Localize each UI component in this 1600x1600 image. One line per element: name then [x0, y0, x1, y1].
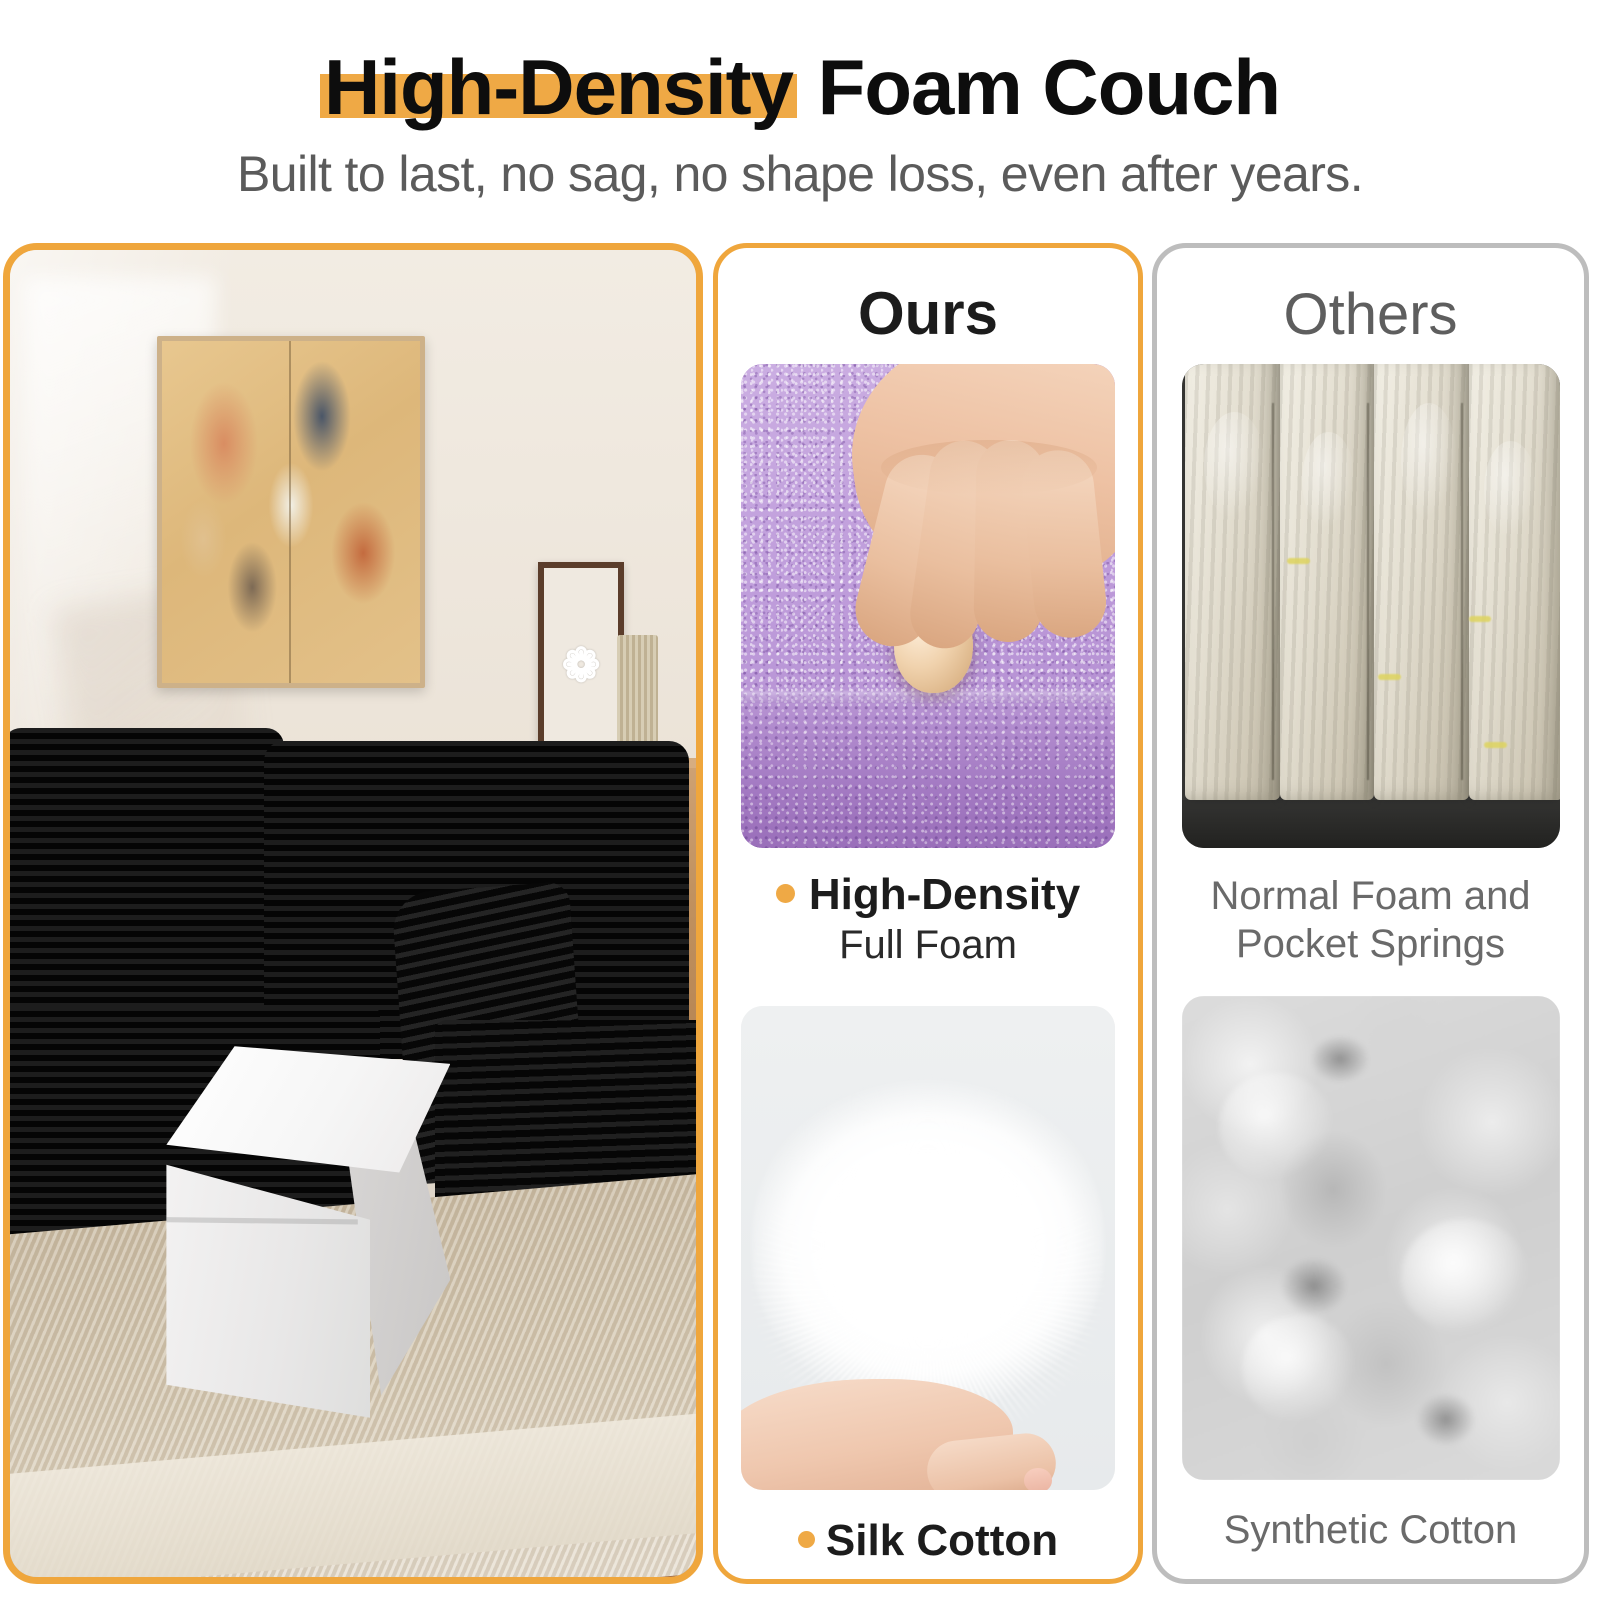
synthetic-cotton-photo: [1182, 996, 1560, 1480]
ours-silk-caption: Silk Cotton: [718, 1516, 1138, 1565]
others-pocket-springs-image: [1182, 364, 1560, 848]
silk-cotton-photo: [741, 1006, 1115, 1490]
others-heading: Others: [1157, 248, 1584, 344]
hand-pressing-egg: [853, 364, 1115, 683]
pouch-wrinkle: [1401, 403, 1458, 519]
foam-block-top-face: [166, 1046, 450, 1172]
fiber-wisp: [1242, 1315, 1355, 1421]
fiber-shadow: [1416, 1393, 1476, 1446]
spring-pouch: [1469, 364, 1560, 800]
fiber-shadow: [1310, 1035, 1370, 1083]
pouch-wrinkle: [1484, 441, 1537, 538]
others-springs-caption-line2: Pocket Springs: [1157, 920, 1584, 968]
foam-front-face: [741, 703, 1115, 848]
fiber-wisp: [1401, 1219, 1530, 1335]
ours-foam-caption-main: High-Density: [718, 870, 1138, 919]
hand-holding-cotton: [741, 1379, 1078, 1490]
page-title: High-Density Foam Couch: [0, 48, 1600, 126]
picture-frame: ❁: [538, 562, 624, 768]
silk-cotton-fibers: [741, 1054, 1115, 1432]
pocket-springs-photo: [1182, 364, 1560, 848]
yellow-thread: [1469, 616, 1492, 622]
yellow-thread: [1287, 558, 1310, 564]
others-column: Others Normal Foam: [1152, 243, 1589, 1584]
others-synthetic-caption: Synthetic Cotton: [1157, 1506, 1584, 1554]
bullet-dot-icon: [798, 1531, 815, 1548]
ours-heading: Ours: [718, 248, 1138, 344]
pouch-crease: [1461, 403, 1463, 781]
living-room-scene: ❁: [10, 250, 696, 1577]
others-springs-caption-line1: Normal Foam and: [1157, 872, 1584, 920]
fingernail: [1024, 1468, 1053, 1490]
ours-foam-image: [741, 364, 1115, 848]
foam-block-front-face: [166, 1143, 370, 1418]
lifestyle-photo-panel: ❁: [3, 243, 703, 1584]
fiber-shadow: [1280, 1257, 1348, 1315]
others-synthetic-caption-line1: Synthetic Cotton: [1157, 1506, 1584, 1554]
pouch-wrinkle: [1204, 412, 1264, 518]
white-foam-block: [154, 1046, 463, 1418]
yellow-thread: [1378, 674, 1401, 680]
bullet-dot-icon: [776, 884, 795, 903]
ours-silk-caption-main: Silk Cotton: [718, 1516, 1138, 1565]
ours-silk-cotton-image: [741, 1006, 1115, 1490]
ours-silk-caption-main-text: Silk Cotton: [826, 1516, 1058, 1565]
frame-artwork-glyph: ❁: [562, 642, 601, 688]
spring-pouch: [1280, 364, 1375, 800]
wall-artwork: [157, 336, 425, 688]
ours-foam-caption-main-text: High-Density: [809, 870, 1080, 919]
comparison-board: ❁ Ours: [0, 243, 1600, 1588]
others-springs-caption: Normal Foam and Pocket Springs: [1157, 872, 1584, 968]
pouch-wrinkle: [1302, 432, 1355, 529]
knuckles-shading: [881, 440, 1097, 496]
ours-foam-caption: High-Density Full Foam: [718, 870, 1138, 968]
sofa-back-cushion-left: [10, 728, 284, 1046]
pouch-crease: [1367, 403, 1369, 781]
yellow-thread: [1484, 742, 1507, 748]
purple-foam-photo: [741, 364, 1115, 848]
title-highlight-text: High-Density: [320, 48, 797, 126]
page-subtitle: Built to last, no sag, no shape loss, ev…: [0, 146, 1600, 204]
title-rest-text: Foam Couch: [797, 43, 1280, 131]
springs-shadow-base: [1182, 800, 1560, 848]
others-synthetic-cotton-image: [1182, 996, 1560, 1480]
ours-column: Ours High-Density Full Foam: [713, 243, 1143, 1584]
header: High-Density Foam Couch Built to last, n…: [0, 0, 1600, 232]
pouch-crease: [1272, 403, 1274, 781]
ours-foam-caption-sub: Full Foam: [718, 923, 1138, 968]
fiber-wisp: [1219, 1073, 1332, 1179]
